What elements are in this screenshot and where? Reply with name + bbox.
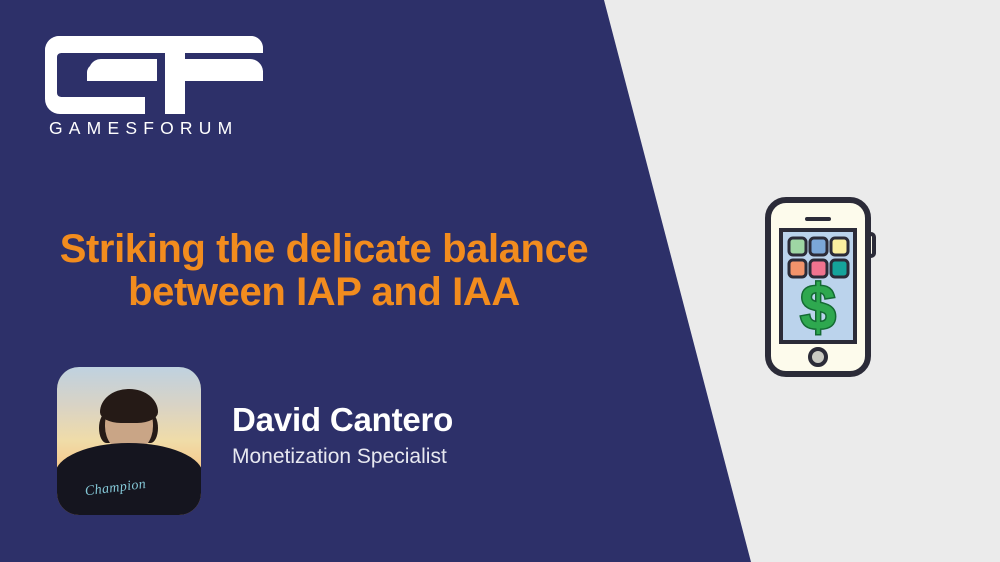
- slide-title: Striking the delicate balance between IA…: [38, 228, 610, 314]
- gf-monogram-icon: [45, 36, 263, 114]
- slide-title-line-1: Striking the delicate balance: [38, 228, 610, 271]
- dollar-sign-glyph: $: [800, 271, 836, 343]
- portrait-hair: [100, 389, 158, 423]
- app-tile-blue: [810, 238, 827, 255]
- speaker-details: David Cantero Monetization Specialist: [232, 402, 652, 469]
- presentation-slide: GAMESFORUM Striking the delicate balance…: [0, 0, 1000, 562]
- slide-title-line-2: between IAP and IAA: [38, 271, 610, 314]
- smartphone-money-illustration: $: [762, 196, 880, 378]
- speaker-name: David Cantero: [232, 402, 652, 439]
- gamesforum-logo: GAMESFORUM: [45, 36, 270, 146]
- speaker-role: Monetization Specialist: [232, 444, 652, 469]
- app-tile-green: [789, 238, 806, 255]
- app-tile-yellow: [831, 238, 848, 255]
- smartphone-money-icon: $: [762, 196, 880, 378]
- speaker-avatar: Champion: [57, 367, 201, 515]
- gamesforum-wordmark: GAMESFORUM: [49, 120, 270, 138]
- speaker-portrait-photo: Champion: [57, 367, 201, 515]
